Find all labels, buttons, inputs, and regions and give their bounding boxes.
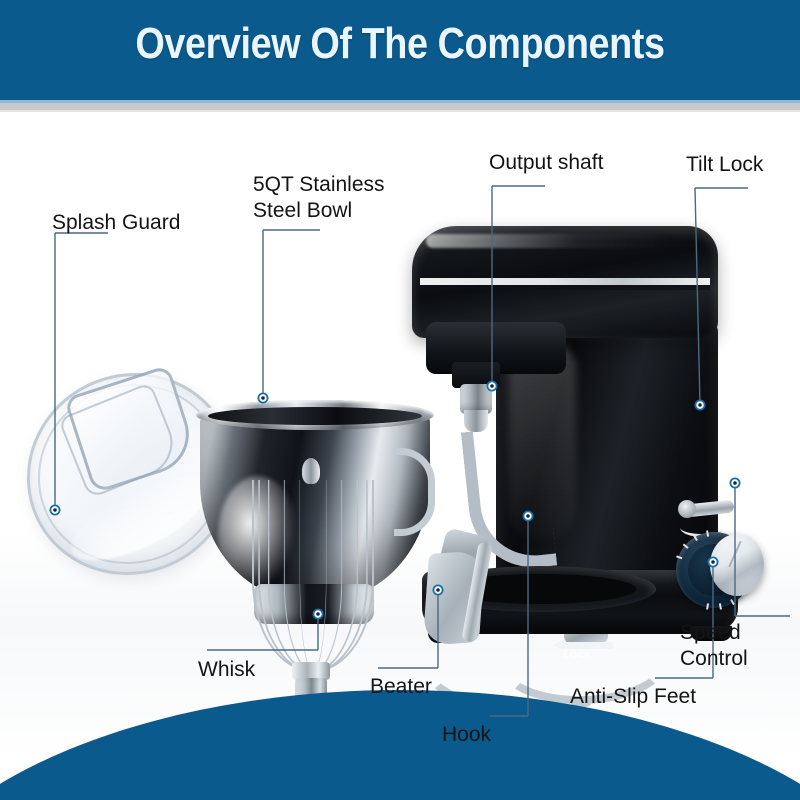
whisk-cage [246,480,376,676]
whisk-wire [300,480,327,672]
callout-label-speed-control: Speed Control [680,620,748,672]
callout-label-tilt-lock: Tilt Lock [686,152,763,178]
tilt-lock-lever[interactable] [678,500,736,518]
mixer-head-highlight [426,234,678,248]
callout-label-bowl: 5QT Stainless Steel Bowl [253,172,385,224]
flat-beater-part [418,542,538,662]
callout-label-beater: Beater [370,674,432,700]
callout-label-hook: Hook [442,722,491,748]
callout-label-output-shaft: Output shaft [489,150,603,176]
mixer-head-chrome-stripe [420,278,710,285]
callout-label-anti-slip-feet: Anti-Slip Feet [570,684,696,710]
mixer-head-stripe-shadow [420,285,710,290]
lock-label: LOCK [564,650,592,660]
speed-control-knob[interactable] [710,534,764,596]
bowl-interior [208,407,422,425]
callout-label-whisk: Whisk [198,657,255,683]
screenshot-root: Overview Of The Components [0,0,800,800]
callout-label-splash-guard: Splash Guard [52,210,180,236]
page-title: Overview Of The Components [56,14,744,74]
header-divider-gray [0,103,800,110]
